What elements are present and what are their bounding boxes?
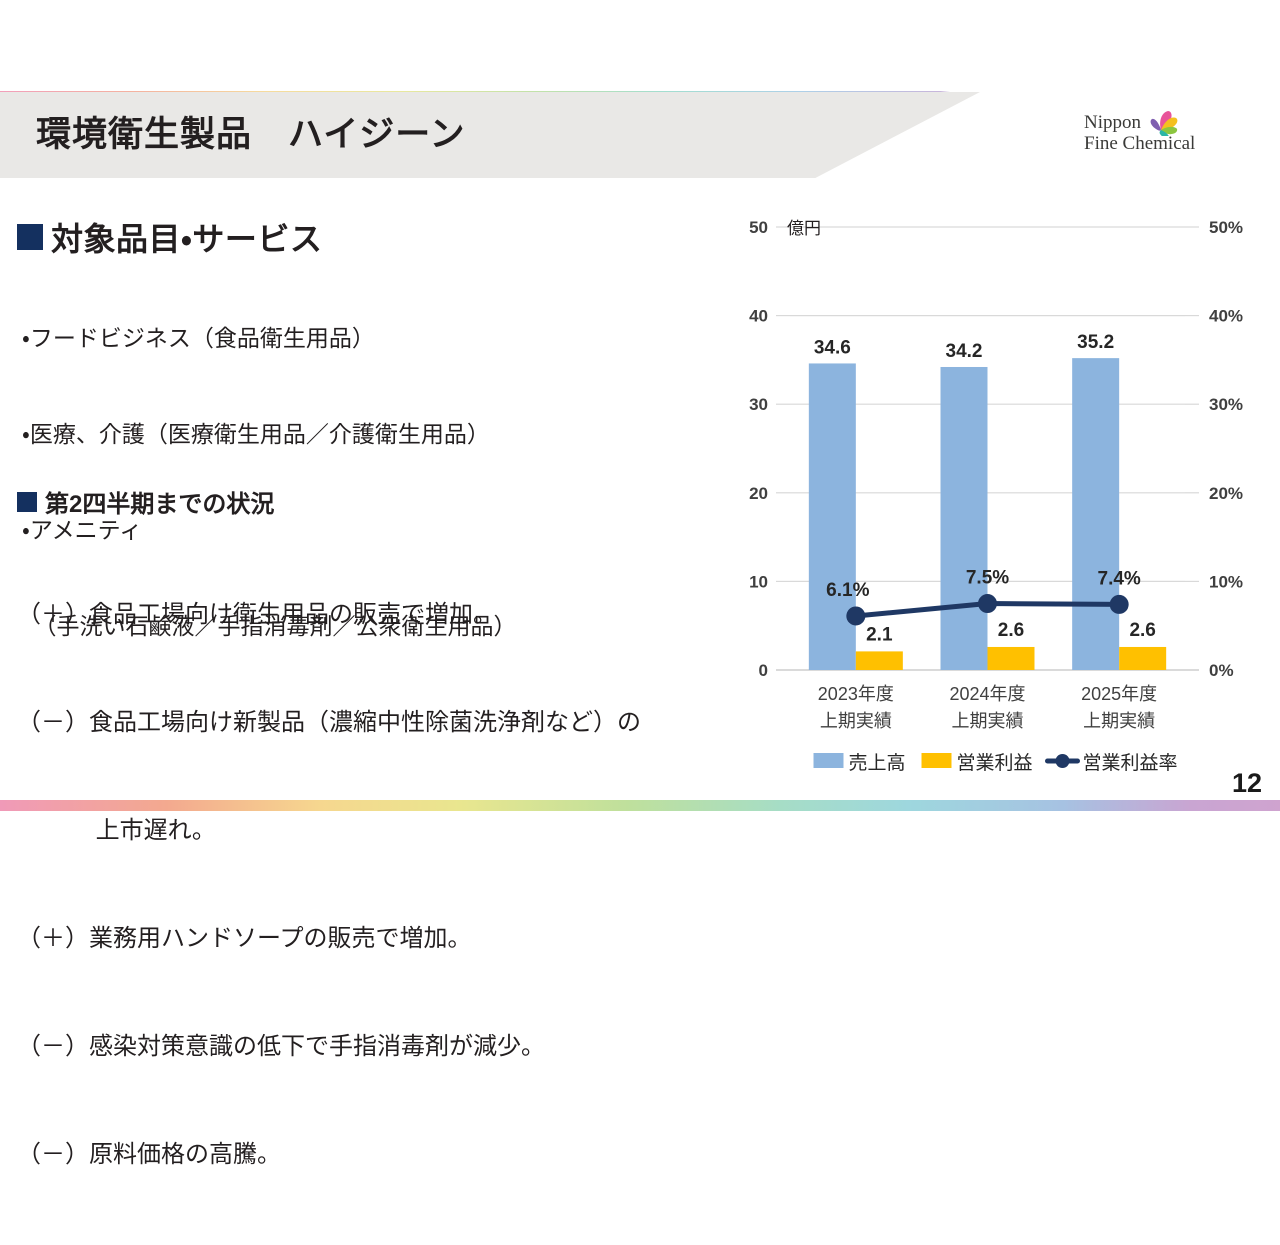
list-item: （－）食品工場向け新製品（濃縮中性除菌洗浄剤など）の <box>17 705 641 741</box>
left-axis-tick: 40 <box>749 307 768 326</box>
bar-profit-label: 2.6 <box>998 620 1024 641</box>
section-heading-status-label: 第2四半期までの状況 <box>45 484 274 519</box>
list-item: ・フードビジネス（食品衛生用品） <box>22 322 517 354</box>
list-item: （＋）業務用ハンドソープの販売で増加。 <box>17 921 641 957</box>
category-label: 上期実績 <box>820 711 892 731</box>
bar-profit <box>856 651 903 670</box>
bar-sales-label: 35.2 <box>1077 332 1114 353</box>
page-number: 12 <box>1232 768 1262 799</box>
bar-profit-label: 2.6 <box>1129 620 1155 641</box>
list-item: （＋）食品工場向け衛生用品の販売で増加。 <box>17 597 641 633</box>
bar-sales-label: 34.6 <box>814 337 851 358</box>
company-logo: NipponFine Chemical <box>1084 112 1244 162</box>
chart-canvas: 010203040500%10%20%30%40%50%億円34.62.134.… <box>730 205 1270 785</box>
logo-line-2: Fine Chemical <box>1084 133 1195 154</box>
right-axis-tick: 50% <box>1209 218 1243 237</box>
page-title: 環境衛生製品 ハイジーン <box>36 106 466 157</box>
left-axis-tick: 30 <box>749 395 768 414</box>
category-label: 2025年度 <box>1081 684 1157 704</box>
performance-chart: 010203040500%10%20%30%40%50%億円34.62.134.… <box>730 205 1270 785</box>
right-axis-tick: 20% <box>1209 484 1243 503</box>
bar-sales <box>941 367 988 670</box>
bar-sales <box>809 363 856 670</box>
category-label: 2024年度 <box>949 684 1025 704</box>
right-axis-tick: 30% <box>1209 395 1243 414</box>
bar-profit <box>1119 647 1166 670</box>
section-heading-products-label: 対象品目・サービス <box>51 214 322 260</box>
right-axis-tick: 0% <box>1209 661 1234 680</box>
left-axis-tick: 0 <box>759 661 768 680</box>
list-item: （－）原料価格の高騰。 <box>17 1137 641 1173</box>
right-axis-tick: 10% <box>1209 572 1243 591</box>
logo-line-1: Nippon <box>1084 112 1141 133</box>
list-item: ・医療、介護（医療衛生用品／介護衛生用品） <box>22 418 517 450</box>
legend-item: 売上高 <box>814 752 906 774</box>
bar-profit <box>988 647 1035 670</box>
left-axis-tick: 10 <box>749 572 768 591</box>
line-marker <box>846 606 865 625</box>
category-label: 上期実績 <box>952 711 1024 731</box>
category-label: 2023年度 <box>818 684 894 704</box>
bar-profit-label: 2.1 <box>866 624 893 645</box>
line-point-label: 7.5% <box>966 568 1009 589</box>
legend-label: 営業利益 <box>957 752 1033 774</box>
right-axis-tick: 40% <box>1209 307 1243 326</box>
line-marker <box>1110 595 1129 614</box>
section-heading-products: 対象品目・サービス <box>17 214 322 260</box>
left-axis-tick: 20 <box>749 484 768 503</box>
category-label: 上期実績 <box>1083 711 1155 731</box>
legend-item: 営業利益 <box>922 752 1033 774</box>
axis-unit-label: 億円 <box>787 219 821 238</box>
slide-root: 環境衛生製品 ハイジーン NipponFine Chemical 対象品目・サー… <box>0 0 1280 905</box>
bar-sales <box>1072 358 1119 670</box>
left-axis-tick: 50 <box>749 218 768 237</box>
list-item: （－）感染対策意識の低下で手指消毒剤が減少。 <box>17 1029 641 1065</box>
bar-sales-label: 34.2 <box>946 341 983 362</box>
section-marker-icon <box>17 492 37 512</box>
fan-logo-mark <box>1146 110 1180 136</box>
section-marker-icon <box>17 224 43 250</box>
line-point-label: 7.4% <box>1098 568 1141 589</box>
line-point-label: 6.1% <box>826 580 869 601</box>
line-marker <box>978 594 997 613</box>
footer-accent-bar <box>0 800 1280 811</box>
list-item: 上市遅れ。 <box>17 813 641 849</box>
legend-item: 営業利益率 <box>1048 752 1178 774</box>
legend-label: 営業利益率 <box>1083 752 1178 774</box>
section-heading-status: 第2四半期までの状況 <box>17 484 274 519</box>
legend-label: 売上高 <box>849 752 906 774</box>
status-list: （＋）食品工場向け衛生用品の販売で増加。 （－）食品工場向け新製品（濃縮中性除菌… <box>17 525 641 1245</box>
